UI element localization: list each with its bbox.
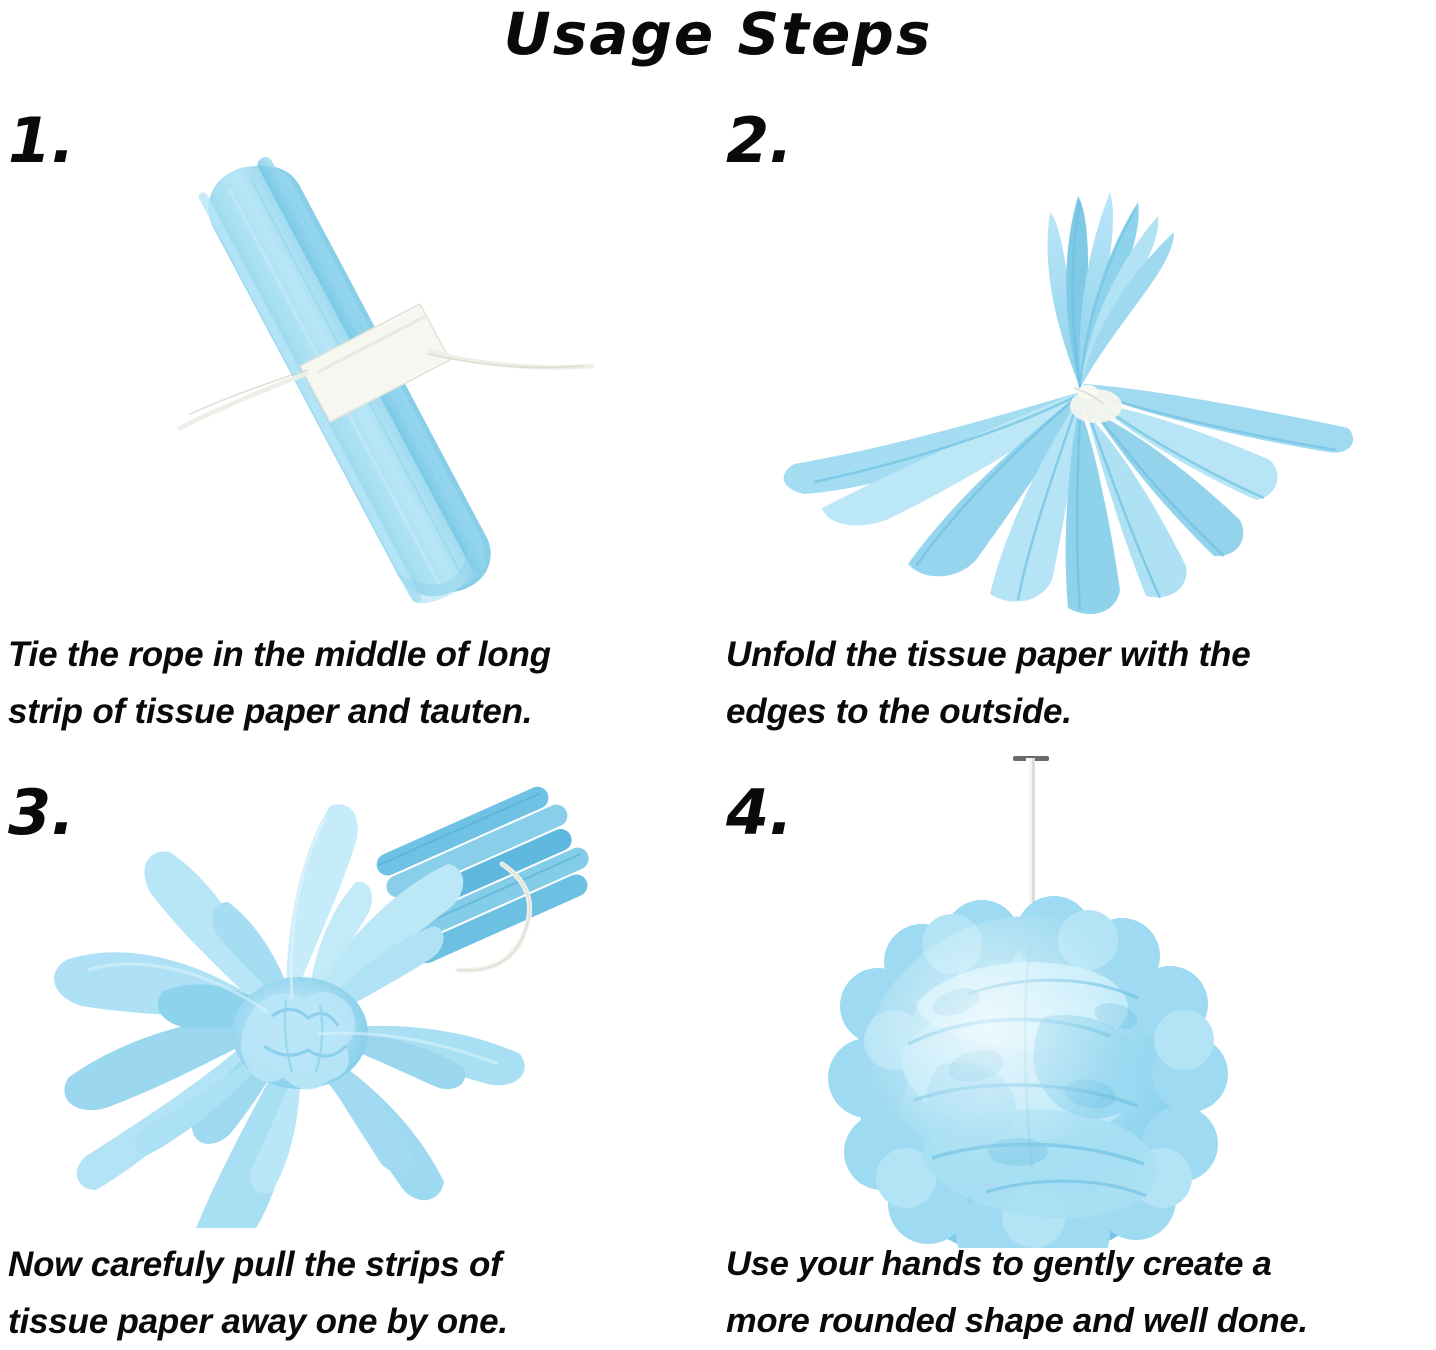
step-1-caption: Tie the rope in the middle of long strip…	[8, 626, 708, 740]
usage-steps-grid: 1.	[0, 96, 1436, 1342]
upward-petals	[1048, 192, 1174, 388]
step-3-caption: Now carefuly pull the strips of tissue p…	[8, 1236, 708, 1350]
pompom-ball	[828, 896, 1228, 1248]
finished-hanging-pompom-illustration	[718, 748, 1436, 1248]
unfolded-fan-illustration	[718, 116, 1436, 636]
step-1: 1.	[0, 96, 718, 748]
step-3: 3.	[0, 748, 718, 1342]
step-3-figure	[0, 778, 718, 1228]
page-title: Usage Steps	[0, 2, 1436, 66]
downward-petals	[784, 384, 1353, 614]
step-4-figure	[718, 748, 1436, 1248]
step-4-caption: Use your hands to gently create a more r…	[726, 1236, 1436, 1350]
partially-separated-pompom-illustration	[0, 778, 718, 1228]
step-2: 2.	[718, 96, 1436, 748]
step-2-caption: Unfold the tissue paper with the edges t…	[726, 626, 1426, 740]
step-1-figure	[0, 116, 718, 636]
folded-tissue-strip-tied-illustration	[0, 116, 718, 636]
step-2-figure	[718, 116, 1436, 636]
step-4: 4.	[718, 748, 1436, 1342]
